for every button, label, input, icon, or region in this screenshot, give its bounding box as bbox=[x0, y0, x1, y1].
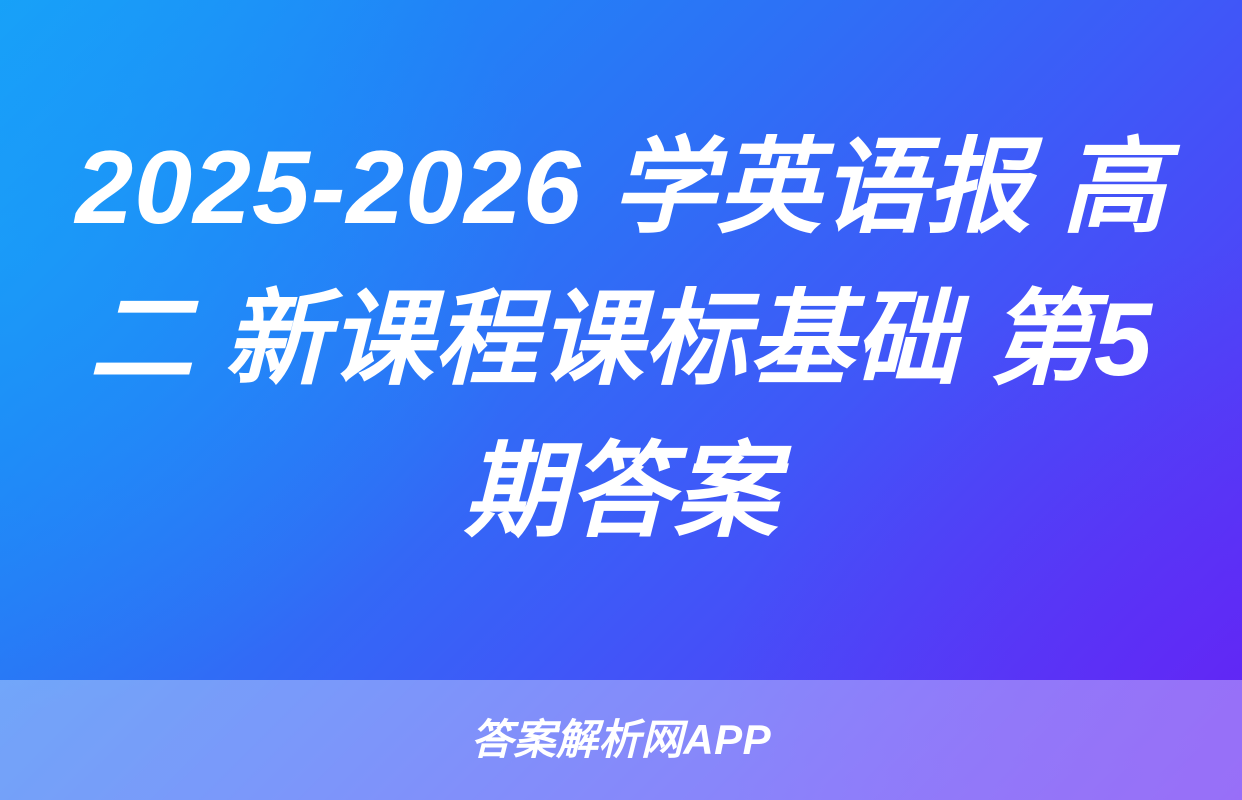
page-title: 2025-2026 学英语报 高二 新课程课标基础 第5期答案 bbox=[52, 112, 1190, 568]
title-area: 2025-2026 学英语报 高二 新课程课标基础 第5期答案 bbox=[0, 0, 1242, 680]
poster-banner: 2025-2026 学英语报 高二 新课程课标基础 第5期答案 答案解析网APP bbox=[0, 0, 1242, 800]
footer-brand-band: 答案解析网APP bbox=[0, 680, 1242, 800]
brand-label: 答案解析网APP bbox=[471, 719, 771, 761]
